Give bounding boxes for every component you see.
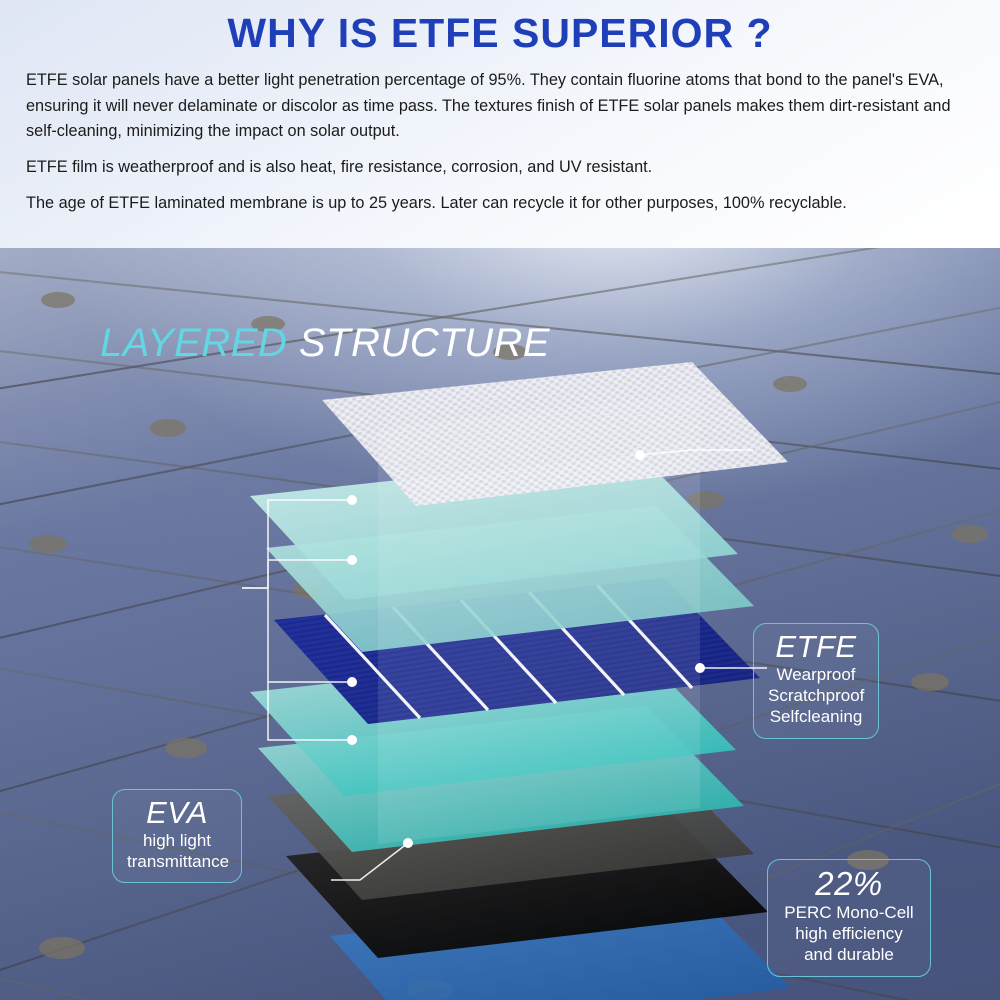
callout-eva-line-1: high light (127, 830, 227, 851)
callout-etfe[interactable]: ETFE Wearproof Scratchproof Selfcleaning (753, 623, 879, 739)
page-title: WHY IS ETFE SUPERIOR ? (26, 8, 974, 59)
body-paragraph-3: The age of ETFE laminated membrane is up… (26, 191, 974, 216)
callout-efficiency-title: 22% (782, 867, 916, 902)
callout-etfe-line-1: Wearproof (768, 664, 864, 685)
callout-etfe-line-2: Scratchproof (768, 685, 864, 706)
callout-eva-title: EVA (127, 797, 227, 830)
body-paragraph-1: ETFE solar panels have a better light pe… (26, 68, 974, 144)
callout-etfe-title: ETFE (768, 631, 864, 664)
infographic-page: WHY IS ETFE SUPERIOR ? ETFE solar panels… (0, 0, 1000, 1000)
callout-eva-line-2: transmittance (127, 851, 227, 872)
layered-structure-scene: LAYERED STRUCTURE (0, 248, 1000, 1000)
body-paragraph-2: ETFE film is weatherproof and is also he… (26, 155, 974, 180)
callout-efficiency[interactable]: 22% PERC Mono-Cell high efficiency and d… (767, 859, 931, 977)
callout-efficiency-line-3: and durable (782, 944, 916, 965)
callout-eva[interactable]: EVA high light transmittance (112, 789, 242, 883)
callout-efficiency-line-1: PERC Mono-Cell (782, 902, 916, 923)
callout-etfe-line-3: Selfcleaning (768, 706, 864, 727)
callout-efficiency-line-2: high efficiency (782, 923, 916, 944)
header-section: WHY IS ETFE SUPERIOR ? ETFE solar panels… (0, 0, 1000, 248)
stack-glow (378, 394, 700, 844)
